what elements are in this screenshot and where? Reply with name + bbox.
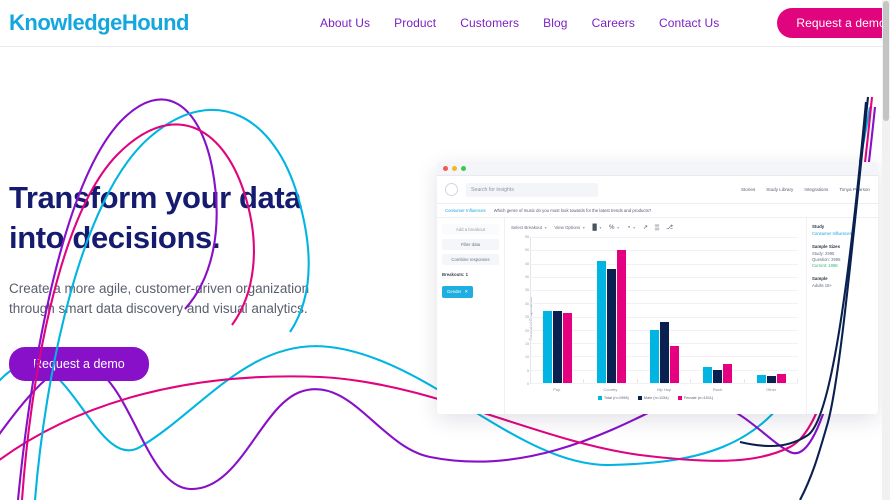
chevron-down-icon: ▼ [599, 226, 602, 230]
bar[interactable] [607, 269, 616, 383]
x-axis-tick: Rock [691, 384, 745, 392]
hero-subtitle: Create a more agile, customer-driven org… [9, 279, 349, 319]
y-axis-tick: 55 [525, 235, 529, 239]
y-axis-tick: 25 [525, 315, 529, 319]
pie-chart-icon[interactable]: ◔ ▼ [627, 225, 636, 231]
hero-subtitle-line-1: Create a more agile, customer-driven org… [9, 281, 309, 296]
legend-swatch [598, 396, 602, 400]
x-axis-tick: Hip Hop [637, 384, 691, 392]
add-breakout-button[interactable]: Add a breakout [442, 224, 499, 235]
app-logo-icon [445, 183, 458, 196]
bar-group [531, 237, 584, 383]
user-menu[interactable]: Tonya Pearson [839, 187, 870, 192]
bar-group [638, 237, 691, 383]
chevron-down-icon: ▼ [632, 226, 635, 230]
y-axis-tick: 20 [525, 329, 529, 333]
table-icon[interactable]: ▒ [655, 225, 659, 231]
close-dot-icon [443, 166, 448, 171]
question-text: Which genre of music do you most look to… [494, 208, 652, 213]
study-key-label: Study [812, 224, 873, 229]
bar[interactable] [660, 322, 669, 383]
trend-line-icon[interactable]: ↗ [643, 225, 648, 231]
bar[interactable] [553, 311, 562, 383]
bar[interactable] [670, 346, 679, 383]
y-axis-tick: 50 [525, 248, 529, 252]
page-scrollbar[interactable] [882, 0, 890, 500]
view-options-label: View Options [554, 225, 580, 230]
y-axis-tick: 35 [525, 288, 529, 292]
tab-study-library[interactable]: Study Library [766, 187, 793, 192]
y-axis-tick: 5 [527, 369, 529, 373]
breakout-chip-gender[interactable]: Gender ✕ [442, 286, 473, 298]
y-axis-tick: 40 [525, 275, 529, 279]
breakout-chip-label: Gender [447, 289, 461, 294]
x-axis-tick: Country [584, 384, 638, 392]
bar[interactable] [713, 370, 722, 383]
y-axis-tick: 0 [527, 382, 529, 386]
main-navigation: About Us Product Customers Blog Careers … [320, 8, 890, 38]
percent-icon[interactable]: % ▼ [609, 225, 620, 231]
chart-panel: Select Breakout ▼ View Options ▼ █ ▼ % ▼… [505, 218, 806, 414]
bar[interactable] [543, 311, 552, 383]
share-icon[interactable]: ⎇ [666, 225, 673, 231]
combine-responses-button[interactable]: Combine responses [442, 254, 499, 265]
plot-area: 0510152025303540455055 [530, 237, 798, 383]
site-header: KnowledgeHound About Us Product Customer… [0, 0, 882, 47]
breakouts-label: Breakouts: 1 [442, 272, 499, 277]
breadcrumb[interactable]: Consumer Influences [445, 208, 486, 213]
remove-chip-icon[interactable]: ✕ [464, 289, 468, 295]
tab-stories[interactable]: Stories [741, 187, 755, 192]
chart-toolbar: Select Breakout ▼ View Options ▼ █ ▼ % ▼… [507, 222, 804, 233]
minimize-dot-icon [452, 166, 457, 171]
tab-integrations[interactable]: Integrations [804, 187, 828, 192]
app-tab-bar: Stories Study Library Integrations Tonya… [741, 187, 870, 192]
search-placeholder-text: Search for insights [471, 187, 514, 193]
bar-group [745, 237, 798, 383]
nav-item-blog[interactable]: Blog [543, 16, 567, 30]
bar[interactable] [723, 364, 732, 383]
left-controls-panel: Add a breakout Filter data Combine respo… [437, 218, 505, 414]
sample-label-value: Adults 18+ [812, 283, 873, 288]
view-options-dropdown[interactable]: View Options ▼ [554, 225, 585, 230]
study-metadata-panel: Study Consumer Influences Sample Sizes S… [806, 218, 878, 414]
sample-sizes-label: Sample Sizes [812, 244, 873, 249]
browser-chrome-bar [437, 162, 878, 176]
bar[interactable] [563, 313, 572, 383]
legend-item[interactable]: Total (n=1998) [598, 395, 629, 400]
bar[interactable] [767, 376, 776, 383]
bar[interactable] [703, 367, 712, 383]
page-title: Transform your data into decisions. [9, 178, 409, 258]
legend-item[interactable]: Male (n=1154) [638, 395, 669, 400]
bar[interactable] [650, 330, 659, 383]
nav-item-about-us[interactable]: About Us [320, 16, 370, 30]
bar[interactable] [777, 374, 786, 383]
chevron-down-icon: ▼ [544, 226, 547, 230]
bar[interactable] [597, 261, 606, 383]
app-top-bar: Search for insights Stories Study Librar… [437, 176, 878, 204]
insights-search-input[interactable]: Search for insights [466, 183, 598, 197]
header-request-demo-button[interactable]: Request a demo [777, 8, 890, 38]
hero-request-demo-button[interactable]: Request a demo [9, 347, 149, 381]
select-breakout-label: Select Breakout [511, 225, 542, 230]
gridline: 0 [531, 383, 798, 384]
x-axis-tick: Other [744, 384, 798, 392]
bar-chart-icon[interactable]: █ ▼ [593, 225, 603, 231]
chevron-down-icon: ▼ [582, 226, 585, 230]
hero-section: Transform your data into decisions. Crea… [9, 178, 409, 381]
chart-legend: Total (n=1998)Male (n=1154)Female (n=151… [513, 395, 798, 400]
sample-size-study: Study: 2995 [812, 251, 873, 256]
nav-item-customers[interactable]: Customers [460, 16, 519, 30]
bar-groups [531, 237, 798, 383]
bar[interactable] [617, 250, 626, 383]
brand-logo[interactable]: KnowledgeHound [9, 12, 189, 34]
y-axis-tick: 30 [525, 302, 529, 306]
hero-title-line-2: into decisions. [9, 220, 220, 255]
app-body: Add a breakout Filter data Combine respo… [437, 218, 878, 414]
sample-size-question: Question: 2995 [812, 257, 873, 262]
study-value[interactable]: Consumer Influences [812, 231, 873, 236]
x-axis: PopCountryHip HopRockOther [530, 383, 798, 392]
x-axis-tick: Pop [530, 384, 584, 392]
nav-item-contact-us[interactable]: Contact Us [659, 16, 719, 30]
legend-label: Female (n=1511) [684, 395, 713, 400]
question-bar: Consumer Influences Which genre of music… [437, 204, 878, 218]
bar[interactable] [757, 375, 766, 383]
sample-size-current: Current: 1998 [812, 263, 873, 268]
sample-label-key: Sample [812, 276, 873, 281]
hero-title-line-1: Transform your data [9, 180, 301, 215]
nav-item-careers[interactable]: Careers [592, 16, 635, 30]
legend-swatch [638, 396, 642, 400]
legend-swatch [678, 396, 682, 400]
product-screenshot-mockup: Search for insights Stories Study Librar… [437, 162, 878, 414]
legend-item[interactable]: Female (n=1511) [678, 395, 713, 400]
nav-item-product[interactable]: Product [394, 16, 436, 30]
bar-group [584, 237, 637, 383]
chevron-down-icon: ▼ [616, 226, 619, 230]
legend-label: Total (n=1998) [604, 395, 629, 400]
maximize-dot-icon [461, 166, 466, 171]
y-axis-tick: 45 [525, 262, 529, 266]
scrollbar-thumb[interactable] [883, 1, 889, 121]
legend-label: Male (n=1154) [644, 395, 669, 400]
hero-subtitle-line-2: through smart data discovery and visual … [9, 301, 308, 316]
select-breakout-dropdown[interactable]: Select Breakout ▼ [511, 225, 547, 230]
y-axis-tick: 10 [525, 355, 529, 359]
bar-chart: Percent of Respondents 05101520253035404… [507, 233, 804, 405]
filter-data-button[interactable]: Filter data [442, 239, 499, 250]
bar-group [691, 237, 744, 383]
y-axis-tick: 15 [525, 342, 529, 346]
